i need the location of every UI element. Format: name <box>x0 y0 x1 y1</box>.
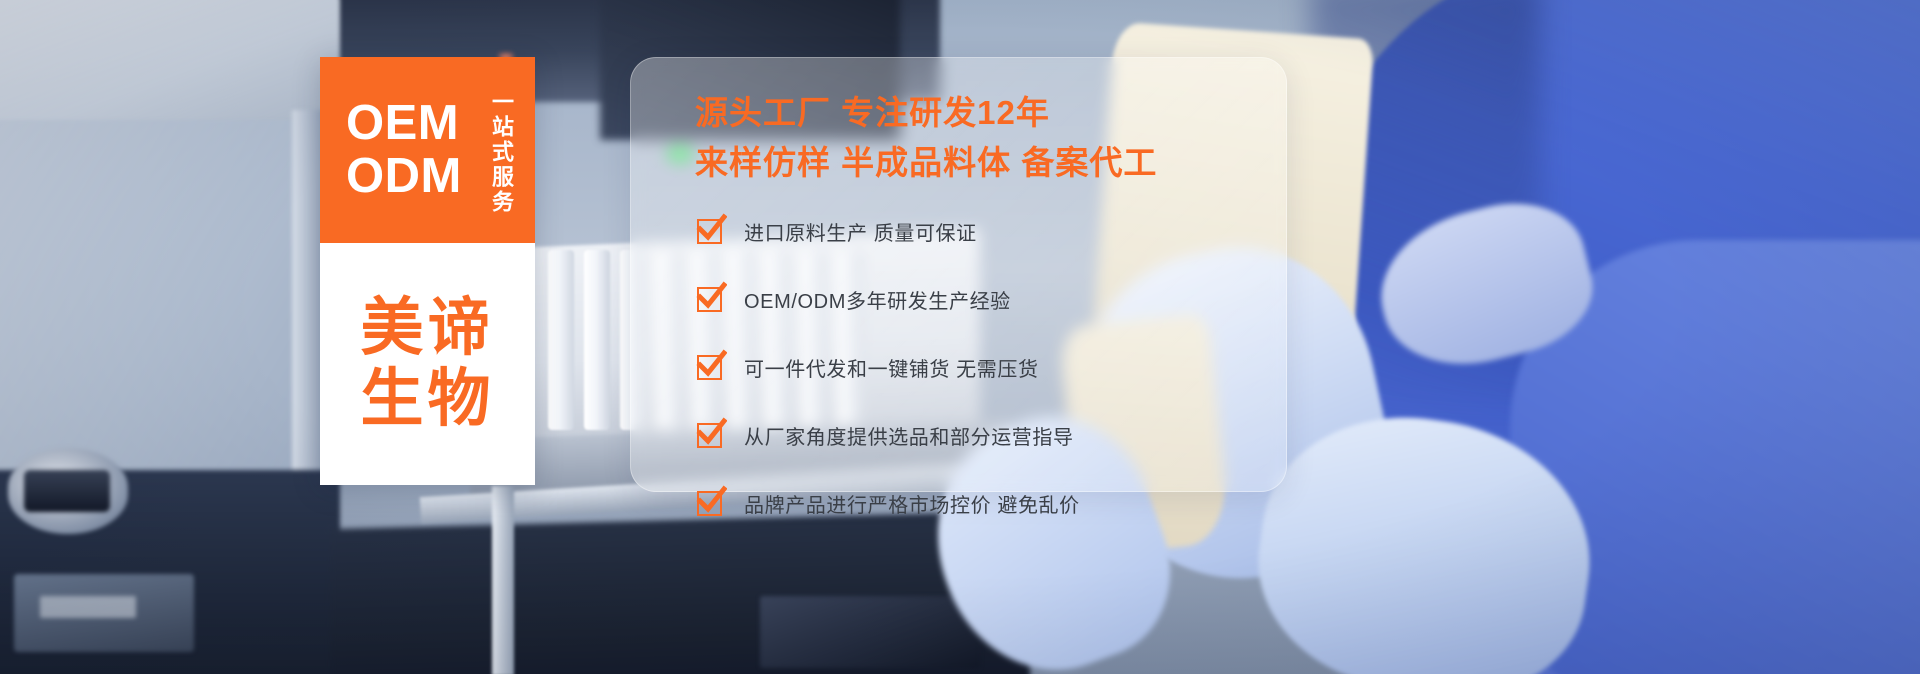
headline-group: 源头工厂 专注研发12年 来样仿样 半成品料体 备案代工 <box>695 88 1295 188</box>
logo-brand-name-line2: 生物 <box>361 364 495 435</box>
checkbox-checked-icon <box>697 423 722 448</box>
logo-bottom-block: 美谛 生物 <box>320 243 535 485</box>
checkbox-checked-icon <box>697 287 722 312</box>
list-item-label: 可一件代发和一键铺货 无需压货 <box>744 353 1039 382</box>
logo-english-text: OEM ODM <box>346 100 462 200</box>
checkbox-checked-icon <box>697 355 722 380</box>
list-item-label: OEM/ODM多年研发生产经验 <box>744 285 1011 314</box>
list-item: 可一件代发和一键铺货 无需压货 <box>697 341 1277 393</box>
checkbox-checked-icon <box>697 491 722 516</box>
list-item-label: 进口原料生产 质量可保证 <box>744 217 977 246</box>
headline-line-2: 来样仿样 半成品料体 备案代工 <box>695 138 1295 188</box>
list-item: 品牌产品进行严格市场控价 避免乱价 <box>697 477 1277 529</box>
feature-list: 进口原料生产 质量可保证 OEM/ODM多年研发生产经验 可一件代发和一键铺货 … <box>697 205 1277 545</box>
list-item-label: 品牌产品进行严格市场控价 避免乱价 <box>744 489 1080 518</box>
list-item-label: 从厂家角度提供选品和部分运营指导 <box>744 421 1074 450</box>
logo-brand-name-line1: 美谛 <box>361 293 495 364</box>
list-item: 进口原料生产 质量可保证 <box>697 205 1277 257</box>
list-item: OEM/ODM多年研发生产经验 <box>697 273 1277 325</box>
brand-logo-card: OEM ODM 一站式服务 美谛 生物 <box>320 57 535 485</box>
headline-line-1: 源头工厂 专注研发12年 <box>695 88 1295 138</box>
checkbox-checked-icon <box>697 219 722 244</box>
logo-odm-text: ODM <box>346 153 462 200</box>
promo-banner: OEM ODM 一站式服务 美谛 生物 源头工厂 专注研发12年 来样仿样 半成… <box>0 0 1920 674</box>
list-item: 从厂家角度提供选品和部分运营指导 <box>697 409 1277 461</box>
logo-top-block: OEM ODM 一站式服务 <box>320 57 535 243</box>
logo-vertical-slogan: 一站式服务 <box>487 90 516 215</box>
logo-oem-text: OEM <box>346 100 462 147</box>
